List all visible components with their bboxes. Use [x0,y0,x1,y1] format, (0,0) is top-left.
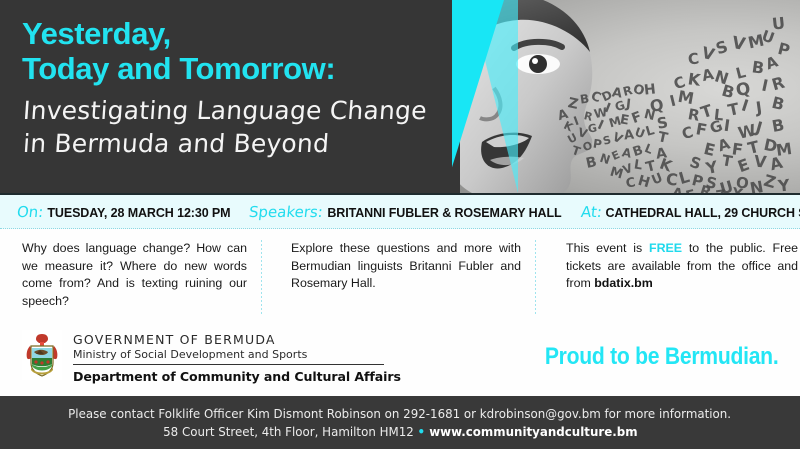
column-tickets: This event is FREE to the public. Free t… [566,240,798,316]
subtitle-line-2: in Bermuda and Beyond [22,127,454,160]
event-info-bar: On: TUESDAY, 28 MARCH 12:30 PM Speakers:… [0,193,800,229]
government-line: GOVERNMENT OF BERMUDA [73,332,401,347]
poster: A Z B C D A R O H K I R W I G J Q [0,0,800,449]
logo-text-block: GOVERNMENT OF BERMUDA Ministry of Social… [73,330,401,384]
subtitle-line-1: Investigating Language Change [22,94,454,127]
description-columns: Why does language change? How can we mea… [0,240,800,316]
department-line: Department of Community and Cultural Aff… [73,369,401,384]
footer-website-link[interactable]: www.communityandculture.bm [425,424,637,439]
when-value: TUESDAY, 28 MARCH 12:30 PM [47,206,230,220]
speakers-label: Speakers: [249,203,325,221]
tagline: Proud to be Bermudian. [544,343,778,371]
column-divider [261,240,262,316]
government-logo-block: GOVERNMENT OF BERMUDA Ministry of Social… [22,330,401,384]
info-bar-row: On: TUESDAY, 28 MARCH 12:30 PM Speakers:… [0,203,800,221]
ticket-site-link[interactable]: bdatix.bm [594,276,653,290]
footer-line-2: 58 Court Street, 4th Floor, Hamilton HM1… [163,423,637,441]
free-highlight: FREE [649,241,682,255]
when-label: On: [16,203,44,221]
body-panel: Why does language change? How can we mea… [0,226,800,396]
bullet-icon: • [417,424,425,439]
footer-address: 58 Court Street, 4th Floor, Hamilton HM1… [163,424,417,439]
column-explore: Explore these questions and more with Be… [291,240,521,316]
where-value: CATHEDRAL HALL, 29 CHURCH ST., HAMILTON [605,206,800,220]
logo-rule [73,364,384,365]
title-line-1: Yesterday, [22,16,452,51]
footer-contact: Please contact Folklife Officer Kim Dism… [0,396,800,449]
title-line-2: Today and Tomorrow: [22,51,452,86]
speakers-value: BRITANNI FUBLER & ROSEMARY HALL [327,206,561,220]
ministry-line: Ministry of Social Development and Sport… [73,348,401,361]
column-divider [535,240,536,316]
hero-headline: Yesterday, Today and Tomorrow: Investiga… [22,16,452,160]
bermuda-coat-of-arms-icon [22,330,62,380]
hero-section: A Z B C D A R O H K I R W I G J Q [0,0,800,193]
footer-line-1: Please contact Folklife Officer Kim Dism… [69,405,732,423]
tickets-pre: This event is [566,241,649,255]
column-questions: Why does language change? How can we mea… [22,240,247,316]
hero-subtitle: Investigating Language Change in Bermuda… [22,94,452,160]
where-label: At: [580,203,603,221]
